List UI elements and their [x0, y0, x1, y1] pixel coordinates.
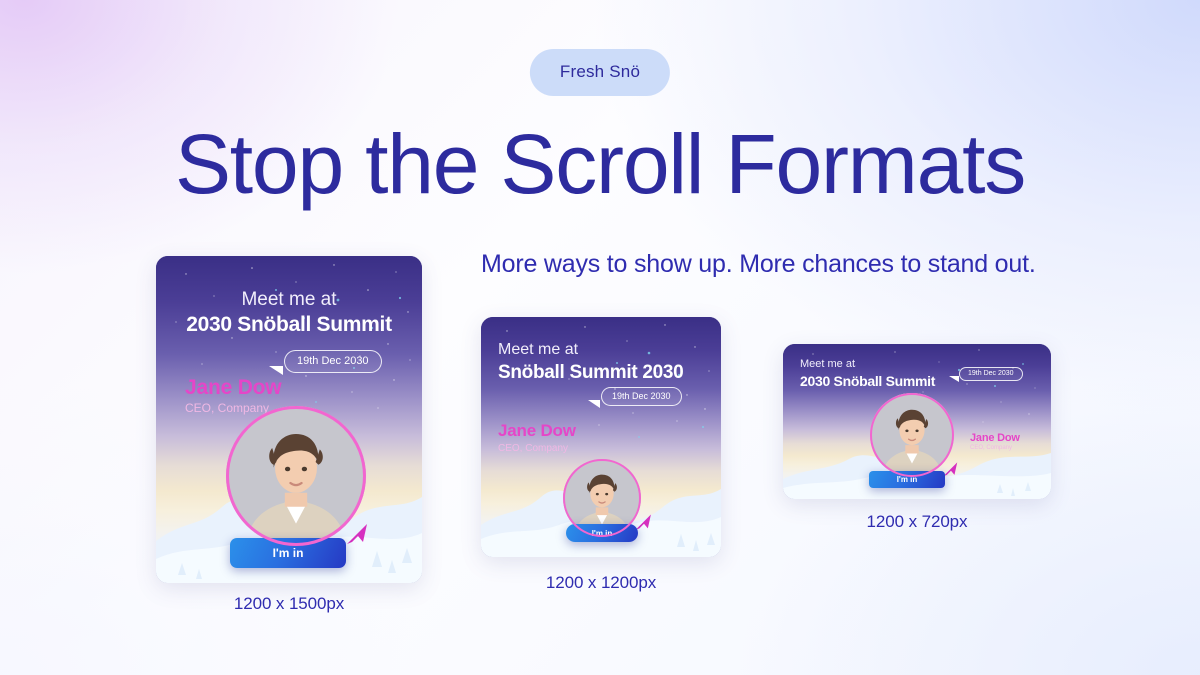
card-caption-square: 1200 x 1200px — [481, 573, 721, 593]
format-card-portrait[interactable]: Meet me at 2030 Snöball Summit 19th Dec … — [156, 256, 422, 583]
cta-button[interactable]: I'm in — [566, 524, 638, 542]
card-meet-label: Meet me at — [800, 358, 855, 370]
person-name: Jane Dow — [970, 432, 1020, 444]
person-name: Jane Dow — [185, 376, 281, 400]
format-card-square[interactable]: Meet me at Snöball Summit 2030 19th Dec … — [481, 317, 721, 557]
card-meet-label: Meet me at — [498, 341, 578, 359]
badge-fresh-sno: Fresh Snö — [530, 49, 670, 96]
card-meet-label: Meet me at — [156, 289, 422, 311]
person-role: CEO, Company — [498, 443, 568, 454]
page-subtitle: More ways to show up. More chances to st… — [481, 250, 1036, 279]
format-card-landscape[interactable]: Meet me at 2030 Snöball Summit 19th Dec … — [783, 344, 1051, 499]
card-event-title: 2030 Snöball Summit — [156, 313, 422, 337]
date-chip[interactable]: 19th Dec 2030 — [601, 387, 682, 406]
card-event-title: 2030 Snöball Summit — [800, 373, 935, 389]
person-name: Jane Dow — [498, 421, 576, 441]
chip-pointer-icon — [949, 376, 959, 382]
cursor-arrow-icon — [345, 522, 371, 548]
card-event-title: Snöball Summit 2030 — [498, 362, 683, 384]
chip-pointer-icon — [269, 366, 283, 375]
slide-canvas: Fresh Snö Stop the Scroll Formats More w… — [0, 0, 1200, 675]
person-role: CEO, Company — [185, 401, 269, 415]
cta-button[interactable]: I'm in — [869, 471, 945, 488]
person-role: CEO, Company — [970, 445, 1012, 451]
card-caption-portrait: 1200 x 1500px — [156, 594, 422, 614]
cta-button[interactable]: I'm in — [230, 538, 346, 568]
page-title: Stop the Scroll Formats — [0, 120, 1200, 208]
card-caption-landscape: 1200 x 720px — [783, 512, 1051, 532]
chip-pointer-icon — [588, 400, 600, 408]
date-chip[interactable]: 19th Dec 2030 — [959, 367, 1023, 381]
date-chip[interactable]: 19th Dec 2030 — [284, 350, 382, 373]
